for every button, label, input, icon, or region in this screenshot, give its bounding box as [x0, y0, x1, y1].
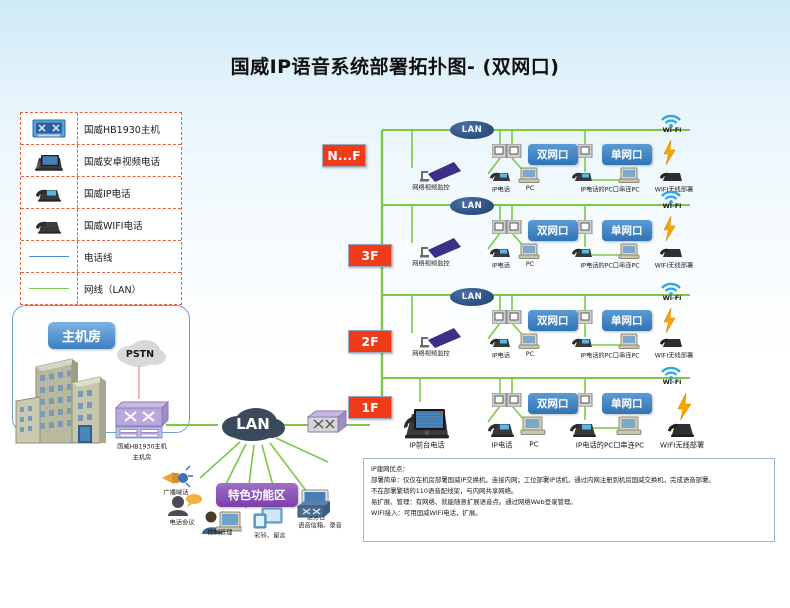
lan-tag-floor-nf: LAN	[450, 121, 494, 139]
dual-port-jack-icon	[492, 144, 522, 158]
lan-cloud-icon: LAN	[216, 403, 288, 445]
pc-icon	[518, 166, 542, 184]
pc-caption: PC	[521, 440, 548, 449]
ringback-message-icon	[252, 506, 286, 532]
note-line: 易扩展、管理：有网络、就能随意扩展语音点。通过网络Web登录管理。	[371, 497, 767, 508]
camera-icon	[420, 324, 466, 350]
blue-line-icon	[21, 241, 78, 272]
lightning-icon	[662, 308, 678, 334]
ip-phone-icon	[568, 415, 598, 439]
ip-phone-icon	[570, 242, 596, 260]
ip-phone-icon	[488, 166, 514, 184]
svg-text:LAN: LAN	[236, 415, 270, 433]
legend-label: 电话线	[78, 250, 113, 264]
dual-port-label: 双网口	[528, 310, 578, 331]
pc-caption: PC	[518, 350, 541, 358]
ip-phone-caption: IP电话	[481, 260, 521, 270]
camera-icon	[420, 234, 466, 260]
single-port-jack-icon	[578, 310, 594, 324]
android-video-phone-icon	[21, 145, 78, 176]
feature-caption-conference: 电话会议	[159, 517, 205, 527]
dual-port-label: 双网口	[528, 220, 578, 241]
pc-caption: PC	[518, 260, 541, 268]
legend-label: 国威安卓视频电话	[78, 154, 160, 168]
legend-row: 电话线	[21, 241, 181, 273]
single-port-jack-icon	[578, 220, 594, 234]
single-port-label: 单网口	[602, 144, 652, 165]
note-line: 部署简单：仅仅在机房部署国威IP交换机，连接内网；工位部署IP话机，通过内网注册…	[371, 475, 767, 486]
android-video-phone-icon	[400, 400, 454, 440]
dual-port-label: 双网口	[528, 393, 578, 414]
camera-icon	[420, 158, 466, 184]
wifi-label: Wi-Fi	[657, 202, 688, 210]
dual-port-jack-icon	[492, 220, 522, 234]
phone-pc-chain-caption: IP电话的PC口串连PC	[564, 184, 656, 194]
floor-tag-2f: 2F	[348, 330, 392, 353]
pstn-cloud-label-area	[112, 335, 168, 369]
access-switch-icon	[306, 408, 348, 438]
pc-icon	[520, 415, 548, 439]
legend-label: 国威IP电话	[78, 186, 131, 200]
page-title: 国威IP语音系统部署拓扑图- (双网口)	[0, 52, 790, 79]
note-line: WIFI接入：可用国威WIFI电话，扩展。	[371, 508, 767, 519]
wifi-label: Wi-Fi	[657, 294, 688, 302]
feature-caption-control: 控制管理	[197, 527, 243, 537]
function-area-label: 特色功能区	[216, 483, 298, 507]
single-port-jack-icon	[578, 144, 594, 158]
single-port-jack-icon	[578, 393, 594, 407]
dual-port-label: 双网口	[528, 144, 578, 165]
diagram-canvas: 国威IP语音系统部署拓扑图- (双网口) 国威HB1930主机	[0, 0, 790, 608]
note-box: IP建网优点： 部署简单：仅仅在机房部署国威IP交换机，连接内网；工位部署IP话…	[363, 458, 775, 542]
wifi-label: Wi-Fi	[657, 378, 688, 386]
phone-pc-chain-caption: IP电话的PC口串连PC	[564, 350, 656, 360]
pc-icon	[618, 166, 642, 184]
note-line: IP建网优点：	[371, 464, 767, 475]
legend-row: 国威安卓视频电话	[21, 145, 181, 177]
camera-caption: 网络视频监控	[397, 182, 464, 192]
ip-phone-caption: IP电话	[481, 350, 521, 360]
legend-label: 国威WIFI电话	[78, 218, 142, 232]
feature-caption-voicemail: 语音信箱、录音	[289, 520, 350, 530]
legend-row: 国威HB1930主机	[21, 113, 181, 145]
building-illustration	[14, 345, 122, 449]
ip-phone-icon	[570, 332, 596, 350]
lightning-icon	[662, 216, 678, 242]
lightning-icon	[662, 140, 678, 166]
broadcast-horn-icon	[158, 462, 194, 488]
single-port-label: 单网口	[602, 310, 652, 331]
pstn-host-link	[132, 365, 146, 399]
wifi-phone-icon	[658, 242, 686, 260]
wifi-deploy-caption: WIFI无线部署	[647, 260, 701, 270]
ip-phone-icon	[488, 332, 514, 350]
wifi-phone-icon	[21, 209, 78, 240]
switch-icon	[21, 113, 78, 144]
ip-phone-icon	[570, 166, 596, 184]
pc-icon	[518, 242, 542, 260]
pc-icon	[618, 242, 642, 260]
wifi-phone-icon	[666, 415, 696, 439]
ip-phone-icon	[486, 415, 516, 439]
front-desk-phone-caption: IP前台电话	[399, 440, 455, 451]
wifi-phone-icon	[658, 166, 686, 184]
feature-caption-ringback: 彩铃、留言	[247, 530, 293, 540]
voice-mailbox-icon	[296, 498, 332, 520]
wifi-label: Wi-Fi	[657, 126, 688, 134]
camera-caption: 网络视频监控	[397, 348, 464, 358]
lan-tag-floor-2f: LAN	[450, 288, 494, 306]
ip-phone-caption: IP电话	[481, 440, 523, 451]
wifi-deploy-caption: WIFI无线部署	[653, 440, 711, 451]
dual-port-jack-icon	[492, 393, 522, 407]
pc-icon	[618, 332, 642, 350]
ip-phone-icon	[488, 242, 514, 260]
note-line: 不在部署繁琐的110语音配线架，与内网共享网络。	[371, 486, 767, 497]
floor-tag-nf: N...F	[322, 144, 366, 167]
legend-label: 网线（LAN）	[78, 282, 141, 296]
single-port-label: 单网口	[602, 393, 652, 414]
ip-phone-icon	[21, 177, 78, 208]
phone-pc-chain-caption: IP电话的PC口串连PC	[564, 260, 656, 270]
pc-caption: PC	[518, 184, 541, 192]
legend-box: 国威HB1930主机 国威安卓视频电话	[20, 112, 182, 305]
wifi-deploy-caption: WIFI无线部署	[647, 350, 701, 360]
ip-phone-caption: IP电话	[481, 184, 521, 194]
dual-port-jack-icon	[492, 310, 522, 324]
wifi-phone-icon	[658, 332, 686, 350]
legend-label: 国威HB1930主机	[78, 122, 160, 136]
green-line-icon	[21, 273, 78, 304]
camera-caption: 网络视频监控	[397, 258, 464, 268]
pc-icon	[616, 415, 644, 439]
phone-pc-chain-caption: IP电话的PC口串连PC	[562, 440, 658, 451]
conference-icon	[164, 492, 202, 518]
legend-row: 网线（LAN）	[21, 273, 181, 304]
lan-tag-floor-3f: LAN	[450, 197, 494, 215]
pc-icon	[518, 332, 542, 350]
legend-row: 国威IP电话	[21, 177, 181, 209]
floor-tag-3f: 3F	[348, 244, 392, 267]
legend-row: 国威WIFI电话	[21, 209, 181, 241]
single-port-label: 单网口	[602, 220, 652, 241]
